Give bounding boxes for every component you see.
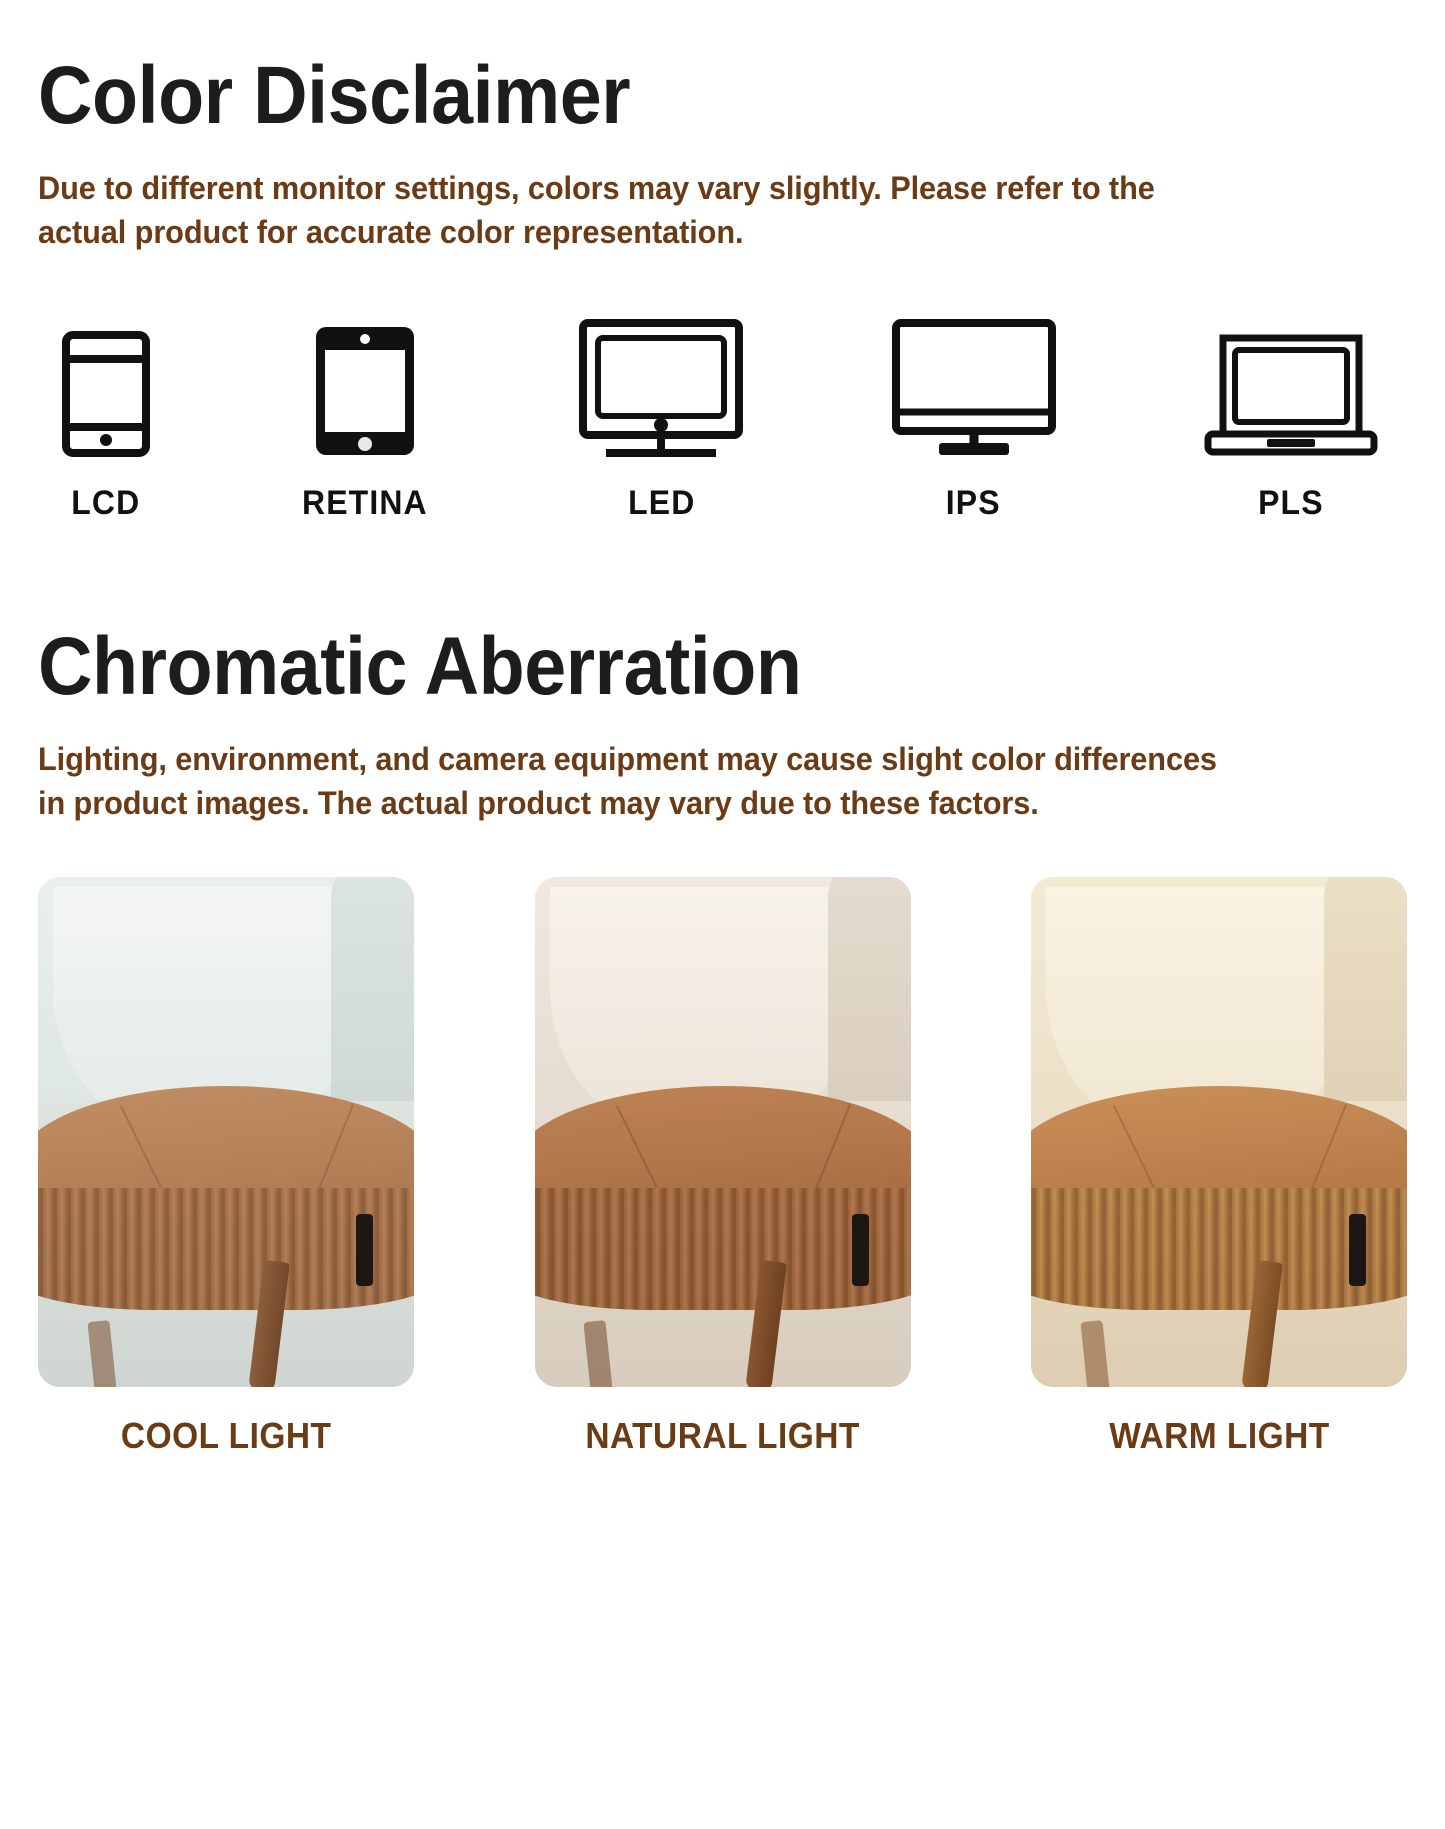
device-label-ips: IPS [946,484,1001,523]
lighting-label-cool: COOL LIGHT [121,1415,331,1457]
coffee-table-photo-warm [1031,877,1407,1387]
coffee-table-photo-natural [535,877,911,1387]
disclaimer-page: Color Disclaimer Due to different monito… [0,0,1445,1829]
device-type-row: LCD RETINA [38,318,1407,523]
lighting-label-natural: NATURAL LIGHT [585,1415,859,1457]
device-item-pls: PLS [1203,318,1379,523]
coffee-table-photo-cool [38,877,414,1387]
device-item-ips: IPS [891,318,1057,523]
desktop-display-icon [891,318,1057,458]
monitor-icon [578,318,744,458]
chromatic-aberration-section: Chromatic Aberration Lighting, environme… [38,619,1407,1457]
lighting-sample-row: COOL LIGHT NATURAL L [38,877,1407,1457]
device-label-retina: RETINA [302,484,428,523]
device-item-retina: RETINA [298,318,432,523]
lighting-sample-warm: WARM LIGHT [1031,877,1407,1457]
lighting-sample-cool: COOL LIGHT [38,877,414,1457]
device-label-led: LED [628,484,695,523]
color-disclaimer-body: Due to different monitor settings, color… [38,166,1204,254]
device-item-lcd: LCD [60,318,152,523]
device-item-led: LED [578,318,744,523]
chromatic-aberration-title: Chromatic Aberration [38,619,1297,715]
device-label-lcd: LCD [71,484,140,523]
lighting-sample-natural: NATURAL LIGHT [535,877,911,1457]
laptop-icon [1203,318,1379,458]
smartphone-icon [60,318,152,458]
device-label-pls: PLS [1258,484,1324,523]
lighting-label-warm: WARM LIGHT [1109,1415,1329,1457]
tablet-icon [313,318,417,458]
color-disclaimer-title: Color Disclaimer [38,0,1297,144]
color-disclaimer-section: Color Disclaimer Due to different monito… [38,0,1407,523]
chromatic-aberration-body: Lighting, environment, and camera equipm… [38,737,1238,825]
